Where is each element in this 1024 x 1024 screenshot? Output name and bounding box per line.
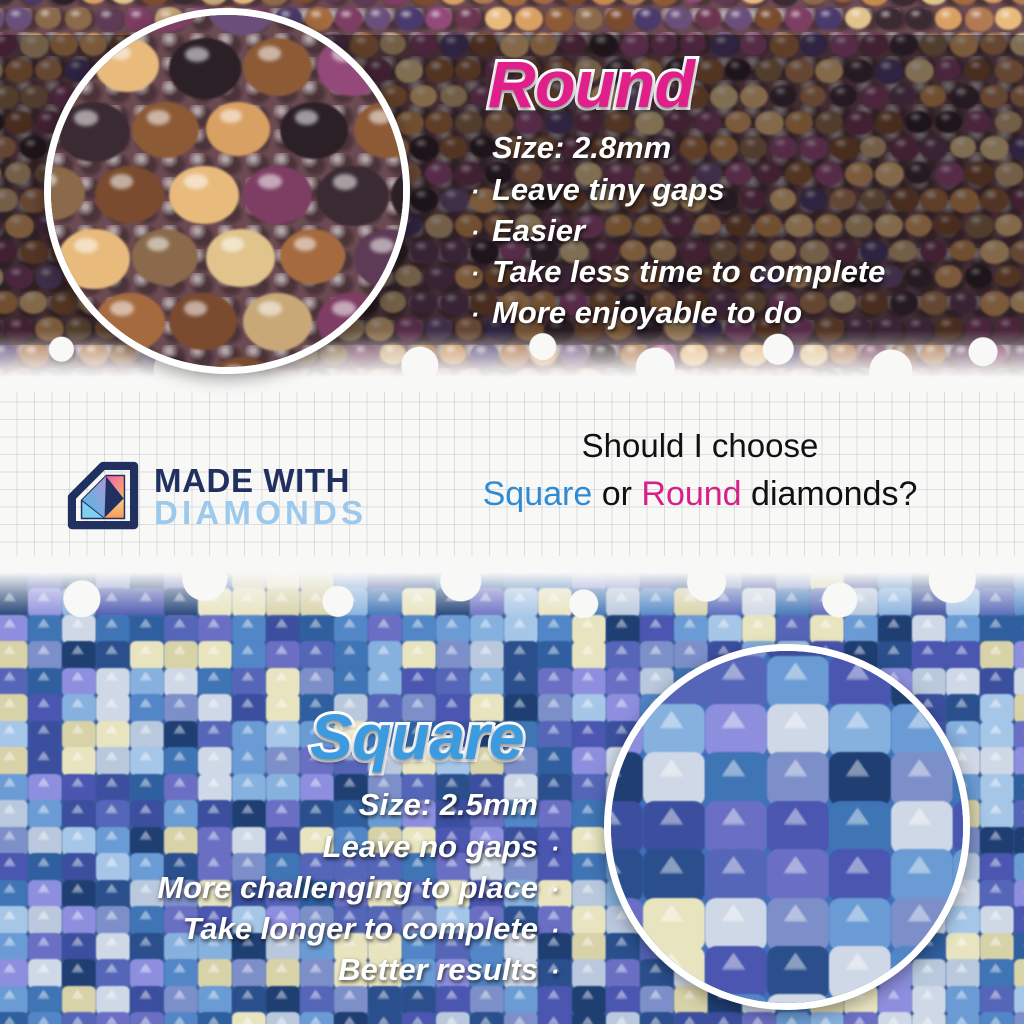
square-bullet-label: More challenging to place (157, 868, 538, 907)
bullet-dot-icon: · (550, 952, 560, 991)
question-headline: Should I choose Square or Round diamonds… (420, 422, 980, 518)
square-bullet-item: Leave no gaps · (40, 827, 560, 868)
round-bullet-label: More enjoyable to do (492, 293, 802, 332)
square-heading: Square (310, 700, 524, 774)
round-bullet-item: · More enjoyable to do (470, 293, 990, 334)
bullet-dot-icon: · (550, 911, 560, 950)
bullet-dot-icon: · (550, 870, 560, 909)
brand-line-2: DIAMONDS (154, 497, 367, 529)
bullet-dot-icon: · (470, 295, 480, 334)
bullet-dot-icon: · (470, 213, 480, 252)
square-diamonds-closeup-inset (604, 644, 970, 1010)
round-bullet-label: Leave tiny gaps (492, 170, 725, 209)
diamond-gem-icon (66, 460, 140, 534)
round-bullet-item: · Leave tiny gaps (470, 170, 990, 211)
round-size-line: Size: 2.8mm (470, 126, 990, 170)
infographic-canvas: Round Size: 2.8mm · Leave tiny gaps · Ea… (0, 0, 1024, 1024)
round-size-text: Size: 2.8mm (492, 126, 671, 170)
brand-line-1: MADE WITH (154, 465, 367, 497)
bullet-dot-icon: · (550, 829, 560, 868)
square-size-text: Size: 2.5mm (359, 783, 538, 827)
round-heading: Round (488, 46, 694, 122)
round-feature-list: Size: 2.8mm · Leave tiny gaps · Easier ·… (470, 126, 990, 334)
bullet-dot-icon: · (470, 254, 480, 293)
square-bullet-label: Take longer to complete (183, 909, 538, 948)
brand-wordmark: MADE WITH DIAMONDS (154, 465, 367, 529)
square-bullet-item: Better results · (40, 950, 560, 991)
question-line-1: Should I choose (582, 427, 819, 464)
keyword-round: Round (641, 475, 741, 513)
round-diamonds-closeup-inset (44, 8, 410, 374)
bullet-dot-icon: · (470, 172, 480, 211)
square-size-line: Size: 2.5mm (40, 783, 560, 827)
square-bullet-label: Leave no gaps (323, 827, 538, 866)
square-bullet-item: More challenging to place · (40, 868, 560, 909)
round-bullet-item: · Take less time to complete (470, 252, 990, 293)
question-conjunction: or (592, 475, 641, 513)
round-bullet-label: Take less time to complete (492, 252, 885, 291)
brand-logo[interactable]: MADE WITH DIAMONDS (66, 460, 367, 534)
question-line-2: Square or Round diamonds? (420, 470, 980, 518)
square-bullet-item: Take longer to complete · (40, 909, 560, 950)
round-bullet-item: · Easier (470, 211, 990, 252)
square-bullet-label: Better results (338, 950, 538, 989)
keyword-square: Square (483, 475, 593, 513)
center-band: MADE WITH DIAMONDS Should I choose Squar… (0, 404, 1024, 556)
square-feature-list: Size: 2.5mm Leave no gaps · More challen… (40, 783, 560, 991)
question-tail: diamonds? (742, 475, 918, 513)
round-bullet-label: Easier (492, 211, 585, 250)
